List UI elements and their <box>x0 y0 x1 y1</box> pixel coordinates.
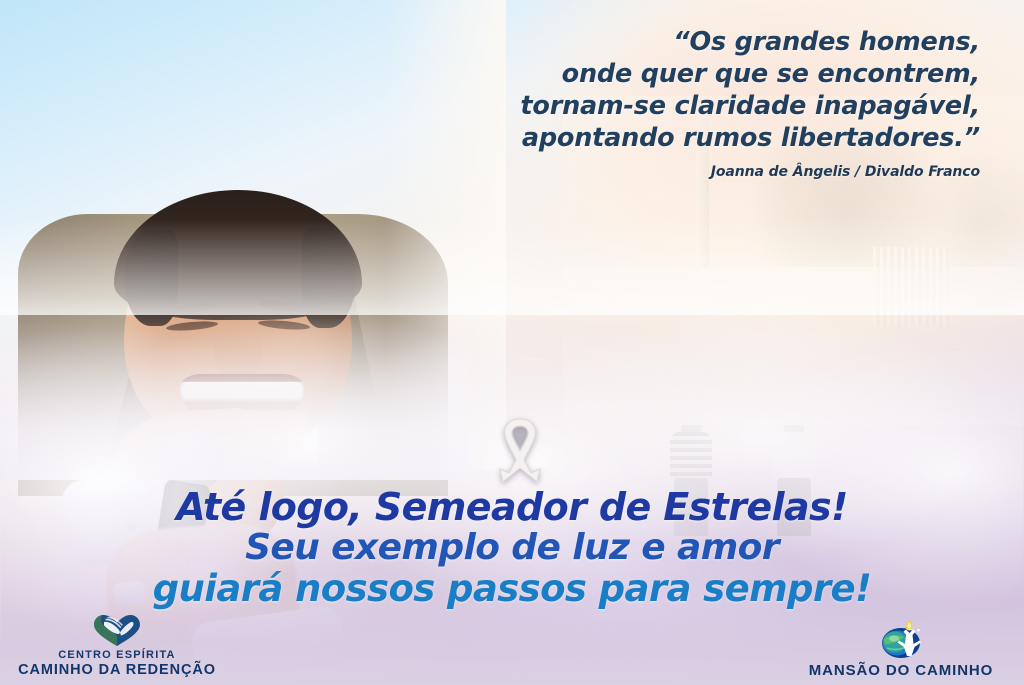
quote-block: “Os grandes homens, onde quer que se enc… <box>420 26 980 180</box>
logo-mansao-do-caminho: MANSÃO DO CAMINHO <box>786 620 1016 679</box>
headline-line-1: Até logo, Semeador de Estrelas! <box>0 486 1024 528</box>
quote-line-2: onde quer que se encontrem, <box>420 58 980 90</box>
headline-line-2: Seu exemplo de luz e amor <box>0 528 1024 568</box>
quote-line-4: apontando rumos libertadores.” <box>420 122 980 154</box>
mourning-ribbon-icon <box>489 413 551 485</box>
hands-heart-icon <box>91 613 143 647</box>
quote-attribution: Joanna de Ângelis / Divaldo Franco <box>420 164 980 180</box>
quote-line-3: tornam-se claridade inapagável, <box>420 90 980 122</box>
logo-left-line-1: CENTRO ESPÍRITA <box>12 649 222 662</box>
headline-line-3: guiará nossos passos para sempre! <box>0 568 1024 610</box>
logo-right-line-2: MANSÃO DO CAMINHO <box>786 662 1016 679</box>
logo-centro-espirita: CENTRO ESPÍRITA CAMINHO DA REDENÇÃO <box>12 613 222 679</box>
cloud-feather <box>0 219 1024 315</box>
globe-figure-flame-icon <box>873 620 929 660</box>
logo-left-line-2: CAMINHO DA REDENÇÃO <box>12 662 222 679</box>
headline-block: Até logo, Semeador de Estrelas! Seu exem… <box>0 486 1024 610</box>
memorial-poster: “Os grandes homens, onde quer que se enc… <box>0 0 1024 685</box>
quote-line-1: “Os grandes homens, <box>420 26 980 58</box>
